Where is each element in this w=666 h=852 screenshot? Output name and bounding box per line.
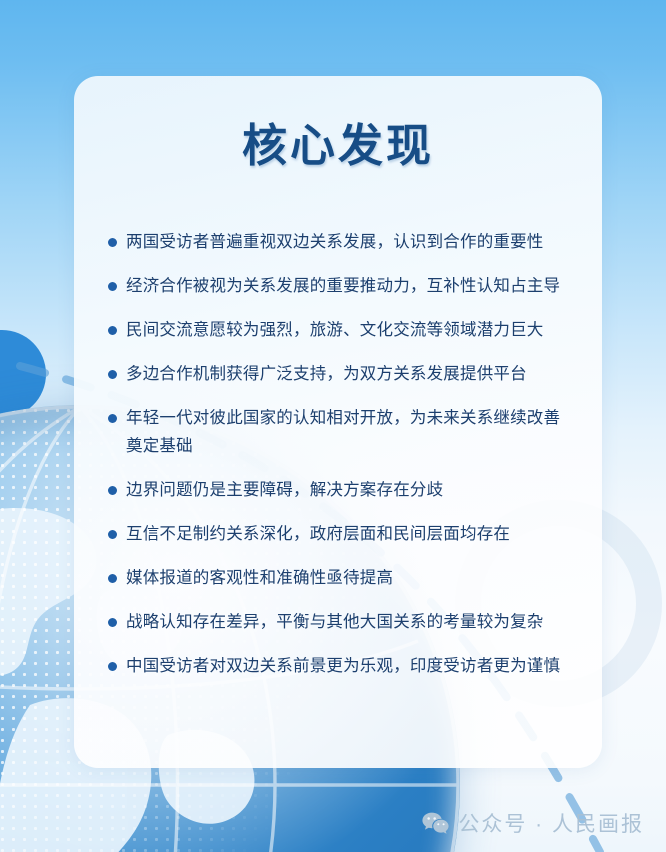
bullet-dot-icon (108, 282, 117, 291)
list-item: 民间交流意愿较为强烈，旅游、文化交流等领域潜力巨大 (108, 316, 568, 344)
page-title: 核心发现 (108, 122, 568, 172)
list-item: 战略认知存在差异，平衡与其他大国关系的考量较为复杂 (108, 608, 568, 636)
list-item: 经济合作被视为关系发展的重要推动力，互补性认知占主导 (108, 272, 568, 300)
bullet-dot-icon (108, 662, 117, 671)
list-item-text: 民间交流意愿较为强烈，旅游、文化交流等领域潜力巨大 (126, 316, 568, 344)
list-item-text: 边界问题仍是主要障碍，解决方案存在分歧 (126, 476, 568, 504)
list-item-text: 经济合作被视为关系发展的重要推动力，互补性认知占主导 (126, 272, 568, 300)
findings-list: 两国受访者普遍重视双边关系发展，认识到合作的重要性 经济合作被视为关系发展的重要… (108, 228, 568, 680)
bullet-dot-icon (108, 618, 117, 627)
list-item: 互信不足制约关系深化，政府层面和民间层面均存在 (108, 520, 568, 548)
bullet-dot-icon (108, 530, 117, 539)
bullet-dot-icon (108, 414, 117, 423)
accent-circle-icon (0, 330, 46, 418)
list-item-text: 媒体报道的客观性和准确性亟待提高 (126, 564, 568, 592)
list-item-text: 多边合作机制获得广泛支持，为双方关系发展提供平台 (126, 360, 568, 388)
list-item: 两国受访者普遍重视双边关系发展，认识到合作的重要性 (108, 228, 568, 256)
wechat-icon (422, 812, 449, 835)
list-item: 中国受访者对双边关系前景更为乐观，印度受访者更为谨慎 (108, 652, 568, 680)
bullet-dot-icon (108, 370, 117, 379)
bullet-dot-icon (108, 574, 117, 583)
list-item: 媒体报道的客观性和准确性亟待提高 (108, 564, 568, 592)
footer-watermark: 公众号 · 人民画报 (422, 808, 644, 838)
list-item-text: 中国受访者对双边关系前景更为乐观，印度受访者更为谨慎 (126, 652, 568, 680)
list-item-text: 互信不足制约关系深化，政府层面和民间层面均存在 (126, 520, 568, 548)
list-item: 多边合作机制获得广泛支持，为双方关系发展提供平台 (108, 360, 568, 388)
bullet-dot-icon (108, 238, 117, 247)
poster-canvas: 核心发现 两国受访者普遍重视双边关系发展，认识到合作的重要性 经济合作被视为关系… (0, 0, 666, 852)
list-item-text: 两国受访者普遍重视双边关系发展，认识到合作的重要性 (126, 228, 568, 256)
list-item: 年轻一代对彼此国家的认知相对开放，为未来关系继续改善奠定基础 (108, 404, 568, 460)
footer-watermark-text: 公众号 · 人民画报 (458, 808, 644, 838)
core-findings-card: 核心发现 两国受访者普遍重视双边关系发展，认识到合作的重要性 经济合作被视为关系… (74, 76, 602, 768)
bullet-dot-icon (108, 486, 117, 495)
list-item-text: 年轻一代对彼此国家的认知相对开放，为未来关系继续改善奠定基础 (126, 404, 568, 460)
list-item: 边界问题仍是主要障碍，解决方案存在分歧 (108, 476, 568, 504)
bullet-dot-icon (108, 326, 117, 335)
list-item-text: 战略认知存在差异，平衡与其他大国关系的考量较为复杂 (126, 608, 568, 636)
